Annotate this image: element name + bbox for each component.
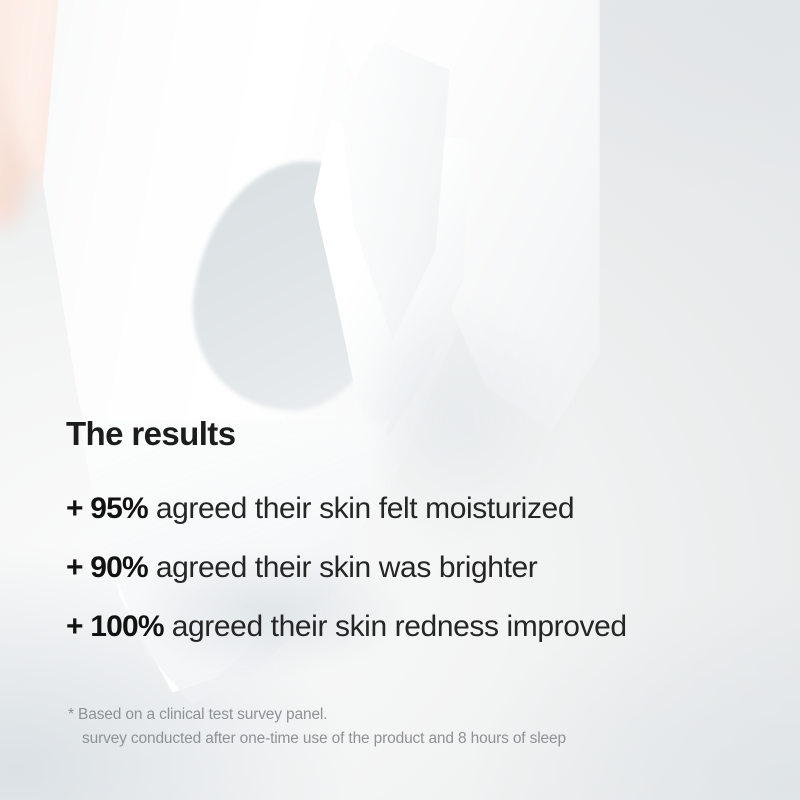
result-stat: + 95% xyxy=(66,492,148,525)
result-text: agreed their skin felt moisturized xyxy=(156,492,574,525)
footnote-line-1: * Based on a clinical test survey panel. xyxy=(68,703,566,727)
text-overlay: The results + 95% agreed their skin felt… xyxy=(0,0,800,800)
marketing-graphic: The results + 95% agreed their skin felt… xyxy=(0,0,800,800)
result-item: + 100% agreed their skin redness improve… xyxy=(66,612,766,642)
footnote-line-2: survey conducted after one-time use of t… xyxy=(68,727,566,751)
page-title: The results xyxy=(66,416,235,452)
results-list: + 95% agreed their skin felt moisturized… xyxy=(66,494,766,642)
footnote: * Based on a clinical test survey panel.… xyxy=(68,703,566,751)
result-text: agreed their skin redness improved xyxy=(172,610,627,643)
result-stat: + 90% xyxy=(66,551,148,584)
result-stat: + 100% xyxy=(66,610,164,643)
result-item: + 95% agreed their skin felt moisturized xyxy=(66,494,766,524)
result-item: + 90% agreed their skin was brighter xyxy=(66,553,766,583)
result-text: agreed their skin was brighter xyxy=(156,551,538,584)
